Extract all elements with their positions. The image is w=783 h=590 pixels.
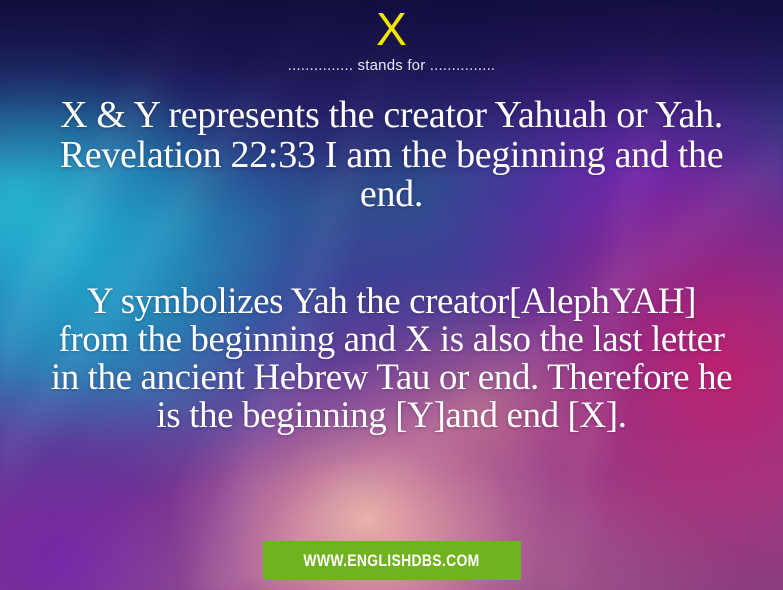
stands-for-tagline: ............... stands for .............… bbox=[0, 57, 783, 74]
body-paragraph: Y symbolizes Yah the creator[AlephYAH] f… bbox=[48, 283, 735, 435]
headline-text: X & Y represents the creator Yahuah or Y… bbox=[28, 96, 755, 215]
website-cta-label: WWW.ENGLISHDBS.COM bbox=[303, 551, 479, 571]
website-cta-button[interactable]: WWW.ENGLISHDBS.COM bbox=[263, 541, 521, 580]
poster-canvas: X ............... stands for ...........… bbox=[0, 0, 783, 590]
featured-letter: X bbox=[0, 6, 783, 52]
poster-content: X ............... stands for ...........… bbox=[0, 0, 783, 590]
